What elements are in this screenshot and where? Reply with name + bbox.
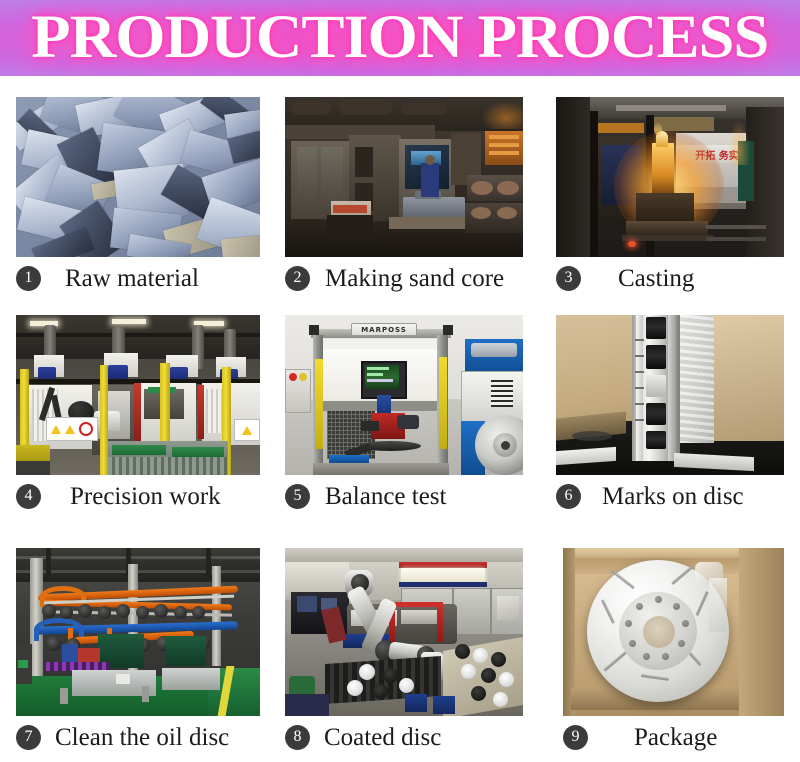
page-title: PRODUCTION PROCESS (0, 7, 800, 69)
process-step-5[interactable]: MARPOSS (285, 315, 523, 515)
process-step-3[interactable]: 开拓 务实 3 Casting (556, 97, 784, 297)
step-4-number-badge: 4 (16, 484, 41, 509)
step-7-photo (16, 548, 260, 716)
process-steps-grid: 1 Raw material (0, 76, 800, 762)
warning-triangle-icon (242, 426, 252, 435)
process-step-2[interactable]: 2 Making sand core (285, 97, 523, 297)
step-3-label: Casting (618, 266, 694, 291)
safety-warning-sign (234, 419, 260, 441)
step-9-photo (563, 548, 784, 716)
marposs-brand-plate: MARPOSS (351, 323, 417, 336)
step-6-caption: 6 Marks on disc (556, 479, 744, 513)
warning-triangle-icon (65, 425, 75, 434)
step-8-number-badge: 8 (285, 725, 310, 750)
page-banner: PRODUCTION PROCESS (0, 0, 800, 76)
step-4-photo (16, 315, 260, 475)
step-2-photo (285, 97, 523, 257)
process-step-6[interactable]: 6 Marks on disc (556, 315, 784, 515)
step-9-caption: 9 Package (563, 720, 717, 754)
prohibition-icon (79, 422, 93, 436)
step-8-photo (285, 548, 523, 716)
step-4-caption: 4 Precision work (16, 479, 221, 513)
step-8-caption: 8 Coated disc (285, 720, 441, 754)
step-3-photo: 开拓 务实 (556, 97, 784, 257)
step-5-caption: 5 Balance test (285, 479, 446, 513)
marposs-brand-text: MARPOSS (361, 326, 407, 334)
process-step-1[interactable]: 1 Raw material (16, 97, 260, 297)
step-9-label: Package (634, 725, 717, 750)
step-1-photo (16, 97, 260, 257)
process-step-8[interactable]: 8 Coated disc (285, 548, 523, 748)
step-5-photo: MARPOSS (285, 315, 523, 475)
step-9-number-badge: 9 (563, 725, 588, 750)
step-6-photo (556, 315, 784, 475)
step-1-label: Raw material (65, 266, 199, 291)
step-5-label: Balance test (325, 484, 446, 509)
step-6-label: Marks on disc (602, 484, 744, 509)
warning-triangle-icon (51, 425, 61, 434)
step-3-number-badge: 3 (556, 266, 581, 291)
step-2-number-badge: 2 (285, 266, 310, 291)
step-2-caption: 2 Making sand core (285, 261, 504, 295)
process-step-7[interactable]: 7 Clean the oil disc (16, 548, 260, 748)
step-8-label: Coated disc (324, 725, 441, 750)
step-2-label: Making sand core (325, 266, 504, 291)
step-5-number-badge: 5 (285, 484, 310, 509)
step-3-caption: 3 Casting (556, 261, 694, 295)
step-7-number-badge: 7 (16, 725, 41, 750)
step-1-number-badge: 1 (16, 266, 41, 291)
process-step-4[interactable]: 4 Precision work (16, 315, 260, 515)
step-7-caption: 7 Clean the oil disc (16, 720, 229, 754)
process-step-9[interactable]: 9 Package (563, 548, 784, 748)
step-7-label: Clean the oil disc (55, 725, 229, 750)
step-4-label: Precision work (70, 484, 221, 509)
safety-warning-sign (46, 417, 98, 441)
page-title-text: PRODUCTION PROCESS (31, 7, 768, 69)
step-1-caption: 1 Raw material (16, 261, 199, 295)
step-6-number-badge: 6 (556, 484, 581, 509)
